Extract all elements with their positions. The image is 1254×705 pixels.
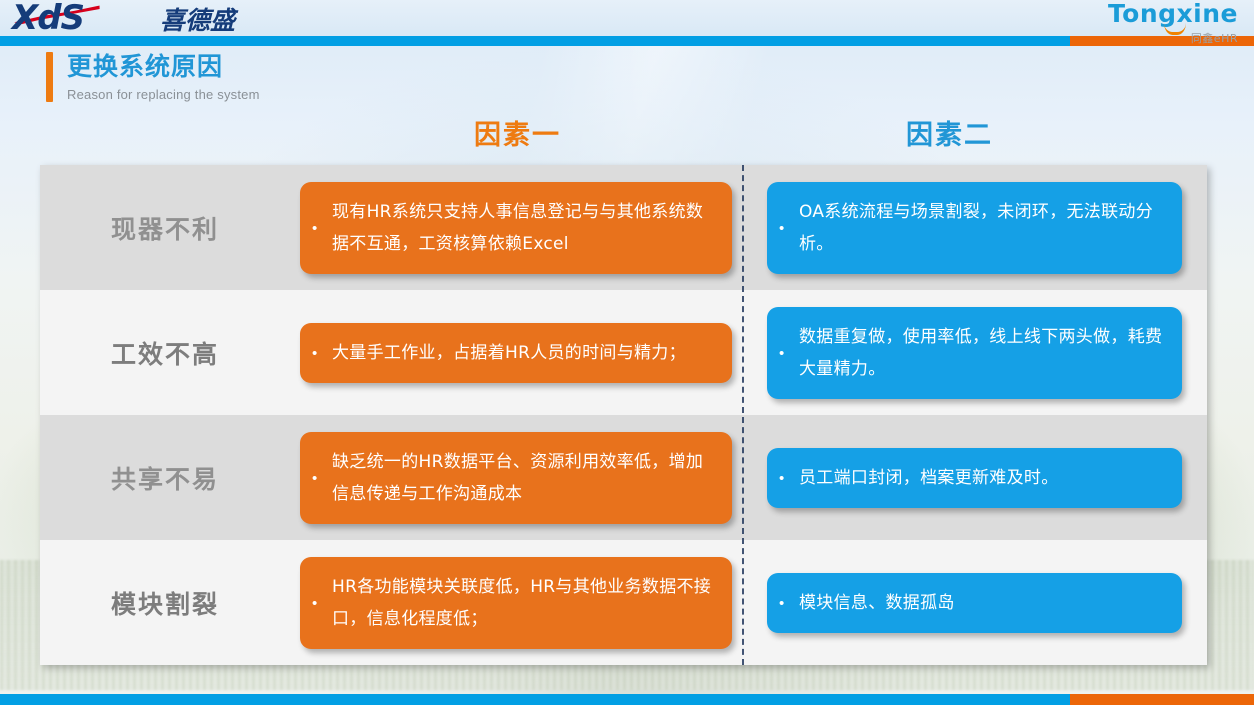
reason-text: 模块信息、数据孤岛: [799, 587, 955, 619]
cell-factor-1: • 大量手工作业，占据着HR人员的时间与精力；: [290, 290, 742, 415]
table-row: 模块割裂 • HR各功能模块关联度低，HR与其他业务数据不接口，信息化程度低； …: [40, 540, 1207, 665]
brand-logo-xds: XdS 喜德盛: [12, 2, 235, 36]
reason-text: 大量手工作业，占据着HR人员的时间与精力；: [332, 337, 686, 369]
reasons-matrix: 现器不利 • 现有HR系统只支持人事信息登记与与其他系统数据不互通，工资核算依赖…: [40, 165, 1207, 665]
header-rule-blue: [0, 36, 1070, 46]
column-heading-factor-2: 因素二: [906, 113, 993, 152]
reason-text: 数据重复做，使用率低，线上线下两头做，耗费大量精力。: [799, 321, 1166, 385]
table-row: 现器不利 • 现有HR系统只支持人事信息登记与与其他系统数据不互通，工资核算依赖…: [40, 165, 1207, 290]
row-label: 共享不易: [40, 460, 290, 496]
cell-factor-2: • 模块信息、数据孤岛: [742, 540, 1207, 665]
bullet-icon: •: [779, 221, 799, 236]
cell-factor-2: • 员工端口封闭，档案更新难及时。: [742, 415, 1207, 540]
reason-chip-blue[interactable]: • 模块信息、数据孤岛: [767, 573, 1182, 633]
cell-factor-2: • OA系统流程与场景割裂，未闭环，无法联动分析。: [742, 165, 1207, 290]
footer-accent-rule: [0, 694, 1254, 705]
column-divider: [742, 165, 744, 665]
cell-factor-1: • HR各功能模块关联度低，HR与其他业务数据不接口，信息化程度低；: [290, 540, 742, 665]
footer-rule-blue: [0, 694, 1070, 705]
title-texts: 更换系统原因 Reason for replacing the system: [67, 52, 260, 102]
page-title: 更换系统原因: [67, 52, 260, 82]
reason-chip-orange[interactable]: • HR各功能模块关联度低，HR与其他业务数据不接口，信息化程度低；: [300, 557, 732, 649]
reason-text: OA系统流程与场景割裂，未闭环，无法联动分析。: [799, 196, 1166, 260]
xds-logo-text: XdS: [12, 1, 84, 35]
bullet-icon: •: [779, 471, 799, 486]
reason-chip-orange[interactable]: • 现有HR系统只支持人事信息登记与与其他系统数据不互通，工资核算依赖Excel: [300, 182, 732, 274]
footer-rule-orange: [1070, 694, 1254, 705]
reason-chip-blue[interactable]: • 数据重复做，使用率低，线上线下两头做，耗费大量精力。: [767, 307, 1182, 399]
tongxine-wordmark: Tongxine: [1108, 1, 1238, 27]
reason-text: 缺乏统一的HR数据平台、资源利用效率低，增加信息传递与工作沟通成本: [332, 446, 716, 510]
reason-chip-blue[interactable]: • 员工端口封闭，档案更新难及时。: [767, 448, 1182, 508]
header-accent-rule: [0, 36, 1254, 46]
reason-text: 现有HR系统只支持人事信息登记与与其他系统数据不互通，工资核算依赖Excel: [332, 196, 716, 260]
row-label: 模块割裂: [40, 585, 290, 621]
table-row: 共享不易 • 缺乏统一的HR数据平台、资源利用效率低，增加信息传递与工作沟通成本…: [40, 415, 1207, 540]
xds-logo-chinese: 喜德盛: [160, 1, 235, 37]
table-row: 工效不高 • 大量手工作业，占据着HR人员的时间与精力； • 数据重复做，使用率…: [40, 290, 1207, 415]
reason-chip-orange[interactable]: • 大量手工作业，占据着HR人员的时间与精力；: [300, 323, 732, 383]
title-accent-bar: [46, 52, 53, 102]
reason-text: HR各功能模块关联度低，HR与其他业务数据不接口，信息化程度低；: [332, 571, 716, 635]
reason-chip-orange[interactable]: • 缺乏统一的HR数据平台、资源利用效率低，增加信息传递与工作沟通成本: [300, 432, 732, 524]
bullet-icon: •: [779, 596, 799, 611]
cell-factor-1: • 现有HR系统只支持人事信息登记与与其他系统数据不互通，工资核算依赖Excel: [290, 165, 742, 290]
column-heading-factor-1: 因素一: [474, 113, 561, 152]
bullet-icon: •: [312, 596, 332, 611]
bullet-icon: •: [779, 346, 799, 361]
cell-factor-2: • 数据重复做，使用率低，线上线下两头做，耗费大量精力。: [742, 290, 1207, 415]
reason-chip-blue[interactable]: • OA系统流程与场景割裂，未闭环，无法联动分析。: [767, 182, 1182, 274]
row-label: 工效不高: [40, 335, 290, 371]
bullet-icon: •: [312, 221, 332, 236]
brand-logo-tongxine: Tongxine 同鑫eHR: [1108, 1, 1238, 46]
xds-wordmark: XdS: [12, 2, 154, 36]
cell-factor-1: • 缺乏统一的HR数据平台、资源利用效率低，增加信息传递与工作沟通成本: [290, 415, 742, 540]
page-title-block: 更换系统原因 Reason for replacing the system: [46, 52, 260, 102]
row-label: 现器不利: [40, 210, 290, 246]
bullet-icon: •: [312, 346, 332, 361]
reason-text: 员工端口封闭，档案更新难及时。: [799, 462, 1059, 494]
page-subtitle: Reason for replacing the system: [67, 87, 260, 102]
bullet-icon: •: [312, 471, 332, 486]
